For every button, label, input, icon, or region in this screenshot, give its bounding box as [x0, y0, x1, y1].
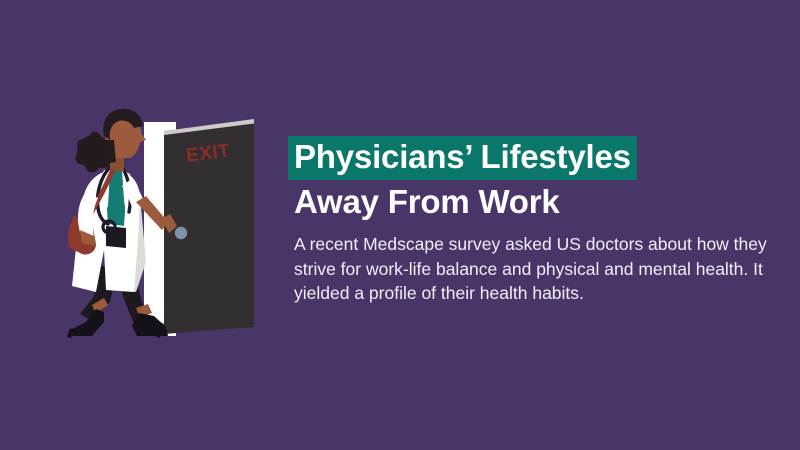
slide-canvas: EXIT	[0, 0, 800, 450]
illustration-doctor-exiting-door: EXIT	[0, 0, 290, 450]
door-knob[interactable]	[175, 227, 187, 239]
hair-bun-texture-3	[86, 160, 99, 173]
headline-line1-highlight: Physicians’ Lifestyles	[288, 136, 637, 180]
headline-line2: Away From Work	[288, 182, 788, 222]
headline-line1: Physicians’ Lifestyles	[294, 140, 631, 174]
headline-text-block: Physicians’ Lifestyles Away From Work A …	[288, 136, 788, 323]
body-paragraph: A recent Medscape survey asked US doctor…	[288, 232, 786, 306]
hair-bun-texture-6	[89, 132, 101, 144]
hair-bun-texture-1	[77, 139, 89, 151]
illustration-svg: EXIT	[0, 0, 290, 450]
doctor-hair-nape	[104, 140, 116, 164]
